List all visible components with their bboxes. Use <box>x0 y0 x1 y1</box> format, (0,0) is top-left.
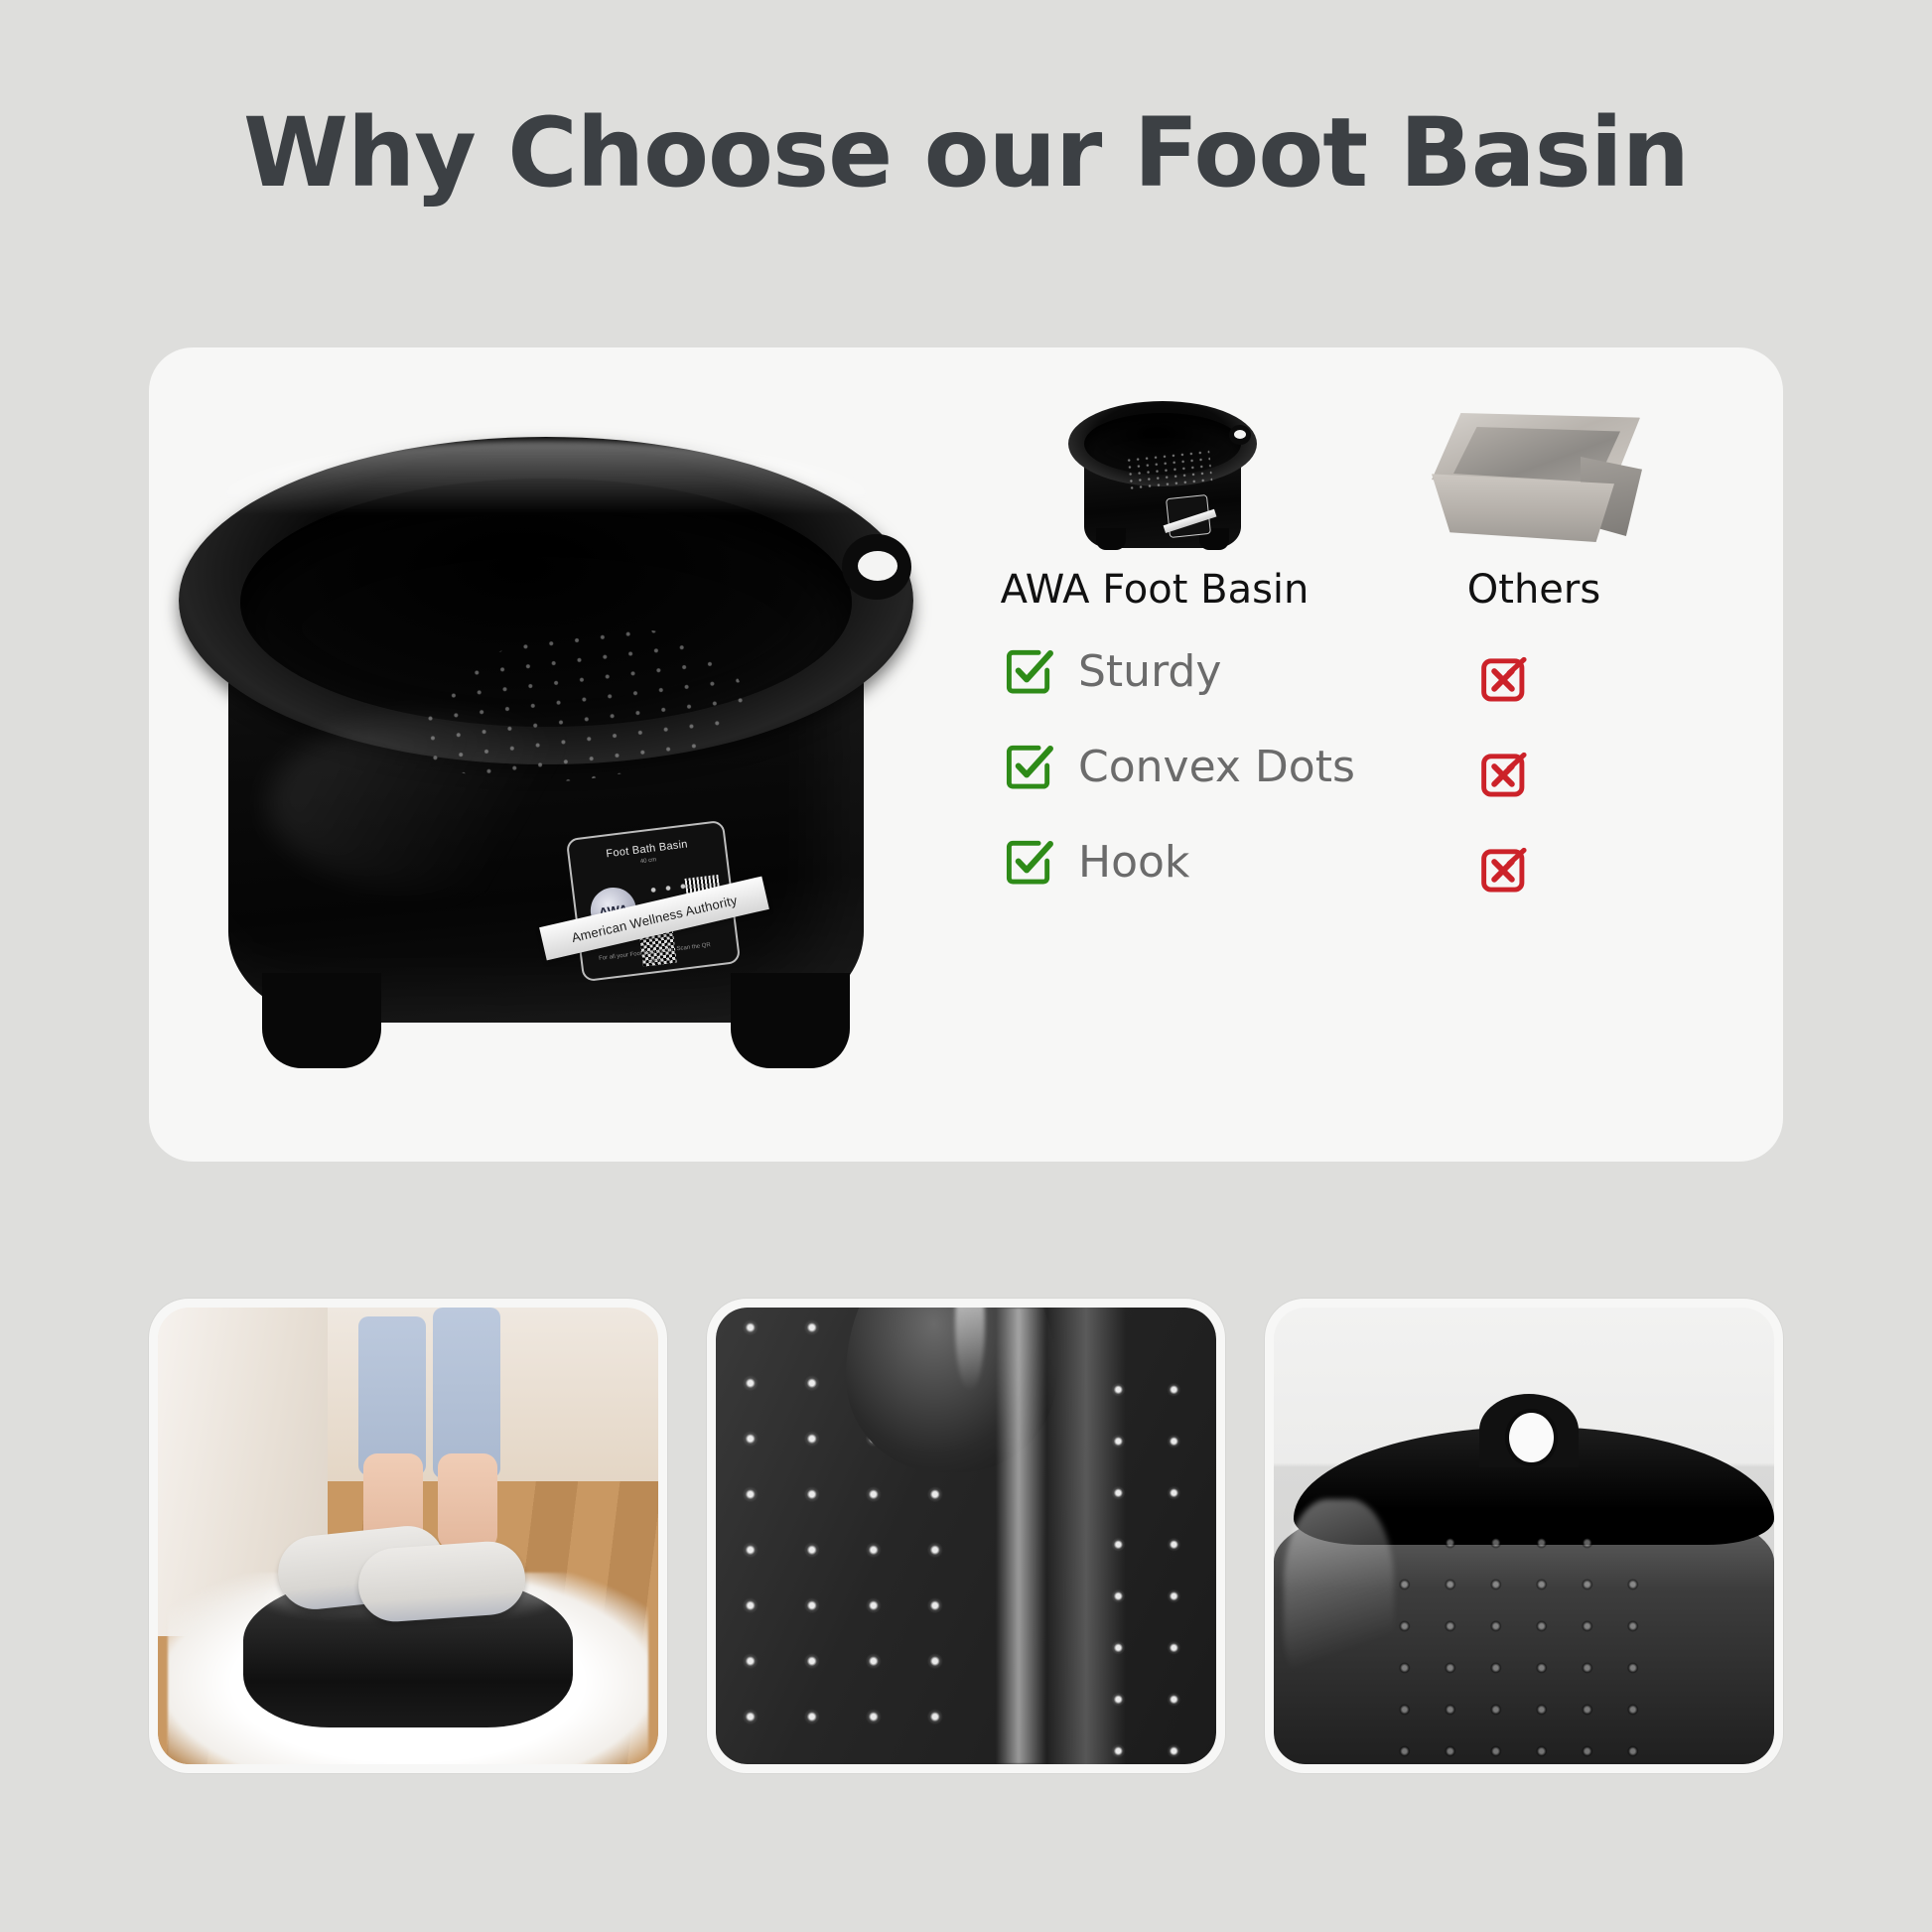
feature-cell-others <box>1475 643 1531 715</box>
others-column-caption: Others <box>1370 567 1698 613</box>
rim-highlight <box>218 441 874 560</box>
green-check-box-icon <box>1001 739 1056 794</box>
feature-cell-awa: Hook <box>1001 834 1189 890</box>
competitor-tub-illustration <box>1432 413 1640 544</box>
page-title: Why Choose our Foot Basin <box>0 97 1932 208</box>
comparison-table: AWA Foot Basin Others <box>983 377 1757 1132</box>
scene-convex-dots <box>716 1308 1216 1764</box>
column-others: Others <box>1370 377 1698 613</box>
comparison-header: AWA Foot Basin Others <box>983 377 1757 625</box>
feature-cell-others <box>1475 834 1531 905</box>
infographic-page: Why Choose our Foot Basin Foot Bath Basi… <box>0 0 1932 1932</box>
feature-label: Hook <box>1078 837 1189 888</box>
jeans-leg-left <box>358 1316 426 1475</box>
feature-row: Convex Dots <box>983 739 1757 834</box>
thumbnail-image-3 <box>1274 1308 1774 1764</box>
awa-basin-foot-left <box>1096 528 1126 550</box>
red-cross-box-icon <box>1475 651 1531 707</box>
thumbnail-image-1 <box>158 1308 658 1764</box>
awa-basin-illustration <box>1068 397 1257 554</box>
scene-hook-closeup <box>1274 1308 1774 1764</box>
thumbnail-convex-dots-closeup <box>707 1299 1225 1773</box>
dots-panel-closeup <box>1384 1527 1644 1764</box>
slipper-right <box>355 1539 527 1624</box>
others-product-thumb <box>1370 377 1698 561</box>
awa-column-caption: AWA Foot Basin <box>991 567 1318 613</box>
tub-front <box>1432 473 1614 542</box>
hero-comparison-card: Foot Bath Basin 40 cm AWA For all your F… <box>149 347 1783 1162</box>
ridge-highlight <box>996 1308 1045 1764</box>
feature-cell-awa: Convex Dots <box>1001 739 1355 794</box>
awa-product-thumb <box>991 377 1318 561</box>
green-check-box-icon <box>1001 643 1056 699</box>
main-product-image: Foot Bath Basin 40 cm AWA For all your F… <box>119 362 993 1147</box>
ankle-right <box>438 1453 497 1549</box>
thumbnail-image-2 <box>716 1308 1216 1764</box>
feature-label: Convex Dots <box>1078 742 1355 792</box>
thumbnail-sturdy-standing-demo <box>149 1299 667 1773</box>
feature-row: Hook <box>983 834 1757 929</box>
column-awa: AWA Foot Basin <box>991 377 1318 613</box>
feature-row: Sturdy <box>983 643 1757 739</box>
red-cross-box-icon <box>1475 842 1531 897</box>
awa-hook-hole-icon <box>1229 425 1251 445</box>
feature-rows: Sturdy <box>983 643 1757 929</box>
red-cross-box-icon <box>1475 747 1531 802</box>
thumbnail-hook-closeup <box>1265 1299 1783 1773</box>
feature-cell-others <box>1475 739 1531 810</box>
hook-hole-icon <box>842 534 911 600</box>
feature-label: Sturdy <box>1078 646 1221 697</box>
green-check-box-icon <box>1001 834 1056 890</box>
awa-label-sticker <box>1166 494 1211 538</box>
feature-cell-awa: Sturdy <box>1001 643 1221 699</box>
basin-foot-right <box>731 973 850 1068</box>
thumbnail-row <box>149 1299 1783 1773</box>
jeans-leg-right <box>433 1308 500 1478</box>
ridge-highlight-secondary <box>1046 1308 1127 1764</box>
scene-standing-on-basin <box>158 1308 658 1764</box>
foot-basin-illustration: Foot Bath Basin 40 cm AWA For all your F… <box>179 417 933 1062</box>
gloss-highlight <box>1284 1499 1394 1710</box>
basin-foot-left <box>262 973 381 1068</box>
